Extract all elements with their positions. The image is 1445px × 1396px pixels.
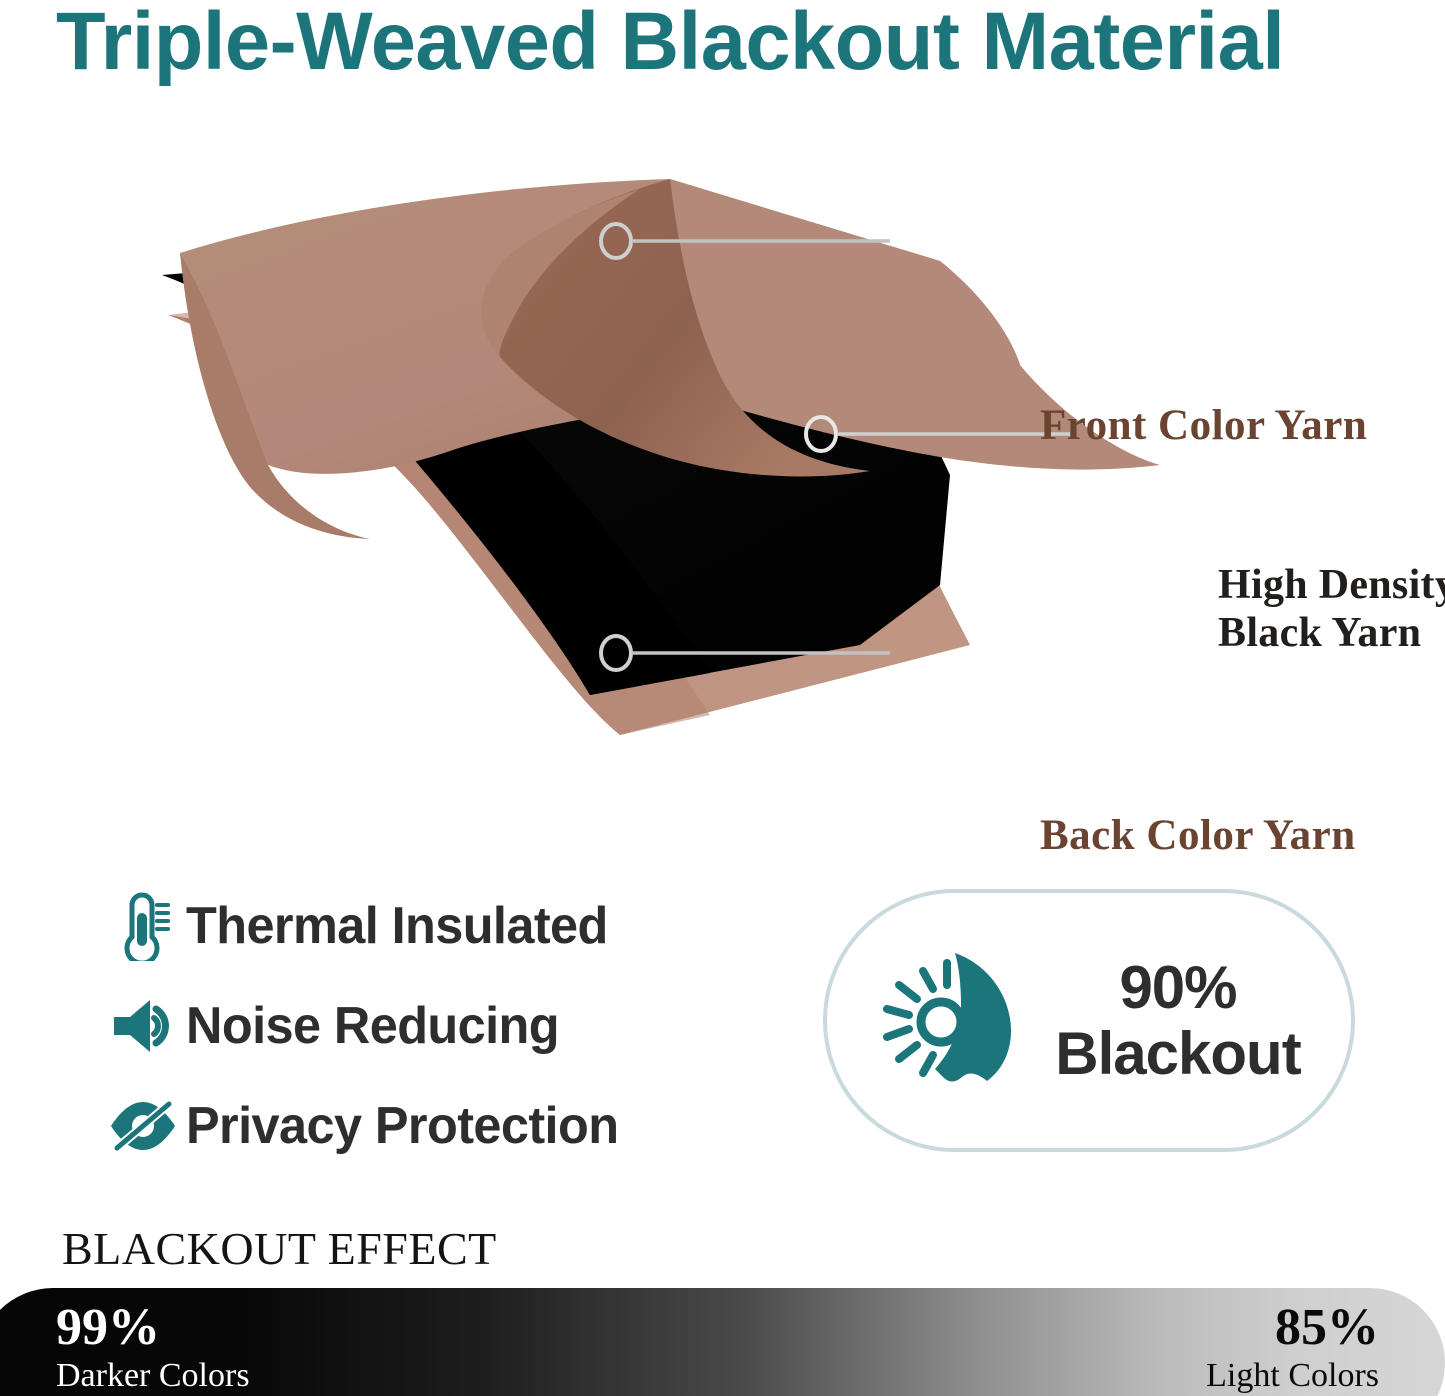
callout-label-high-density-black-yarn: High Density Black Yarn bbox=[1218, 561, 1445, 657]
speaker-icon bbox=[100, 997, 186, 1055]
feature-label-thermal-insulated: Thermal Insulated bbox=[186, 896, 608, 956]
feature-list: Thermal Insulated Noise Reducing bbox=[100, 876, 740, 1176]
eye-slash-icon bbox=[100, 1098, 186, 1154]
thermometer-icon bbox=[100, 891, 186, 961]
blackout-percentage-badge: 90% Blackout bbox=[823, 889, 1355, 1152]
infographic-page: Triple-Weaved Blackout Material bbox=[0, 0, 1445, 1396]
blackout-stat-darker-colors: 99% Darker Colors bbox=[56, 1300, 250, 1396]
darker-colors-label: Darker Colors bbox=[56, 1356, 250, 1396]
feature-item-thermal-insulated: Thermal Insulated bbox=[100, 876, 740, 976]
blackout-label: Blackout bbox=[1055, 1021, 1300, 1087]
feature-item-privacy-protection: Privacy Protection bbox=[100, 1076, 740, 1176]
feature-label-privacy-protection: Privacy Protection bbox=[186, 1096, 618, 1156]
page-title: Triple-Weaved Blackout Material bbox=[56, 0, 1393, 90]
darker-colors-percent: 99% bbox=[56, 1300, 250, 1356]
blackout-effect-heading: BLACKOUT EFFECT bbox=[62, 1222, 497, 1275]
fabric-layers-diagram: Front Color Yarn High Density Black Yarn… bbox=[150, 175, 1310, 735]
callout-label-line-1: High Density bbox=[1218, 561, 1445, 609]
blackout-badge-text: 90% Blackout bbox=[1055, 955, 1300, 1087]
feature-label-noise-reducing: Noise Reducing bbox=[186, 996, 559, 1056]
callout-label-line-2: Black Yarn bbox=[1218, 609, 1445, 657]
light-colors-label: Light Colors bbox=[1206, 1356, 1379, 1396]
feature-item-noise-reducing: Noise Reducing bbox=[100, 976, 740, 1076]
blackout-percent: 90% bbox=[1055, 955, 1300, 1021]
sun-blocked-icon bbox=[877, 945, 1029, 1100]
light-colors-percent: 85% bbox=[1206, 1300, 1379, 1356]
callout-label-back-color-yarn: Back Color Yarn bbox=[1040, 811, 1356, 860]
blackout-stat-light-colors: 85% Light Colors bbox=[1206, 1300, 1379, 1396]
callout-label-front-color-yarn: Front Color Yarn bbox=[1040, 401, 1367, 450]
